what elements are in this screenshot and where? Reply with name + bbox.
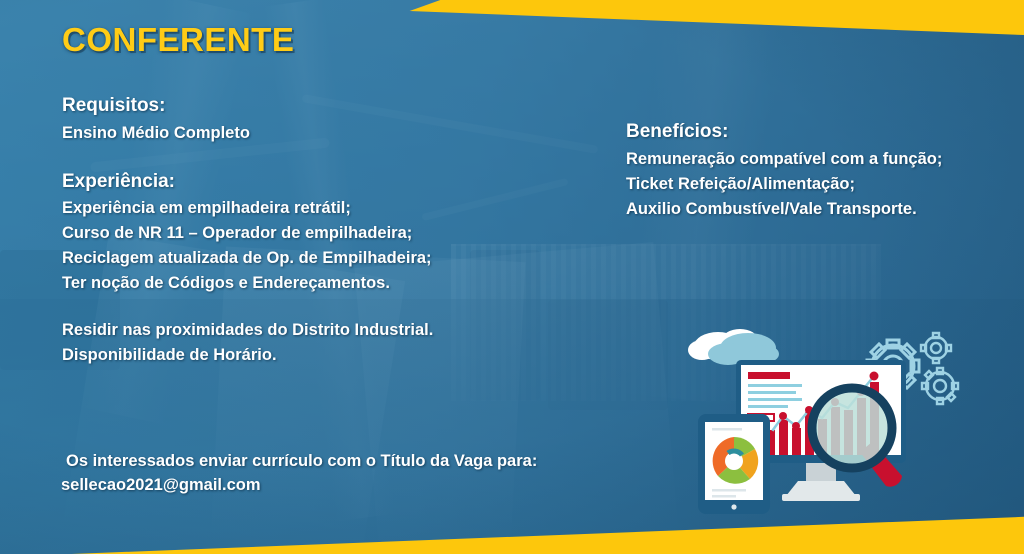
cloud-icon [688,329,779,365]
experiencia-item: Reciclagem atualizada de Op. de Empilhad… [62,246,582,271]
gear-icon [922,368,958,404]
requisitos-item: Ensino Médio Completo [62,121,582,146]
job-posting-poster: CONFERENTE Requisitos: Ensino Médio Comp… [0,0,1024,554]
extra-item: Disponibilidade de Horário. [62,343,582,368]
tablet-icon [698,414,770,514]
experiencia-heading: Experiência: [62,168,582,197]
analytics-illustration [688,324,1024,530]
cta-instruction: Os interessados enviar currículo com o T… [66,452,537,471]
beneficios-item: Ticket Refeição/Alimentação; [626,172,1016,197]
right-column: Benefícios: Remuneração compatível com a… [626,118,1016,222]
call-to-action: Os interessados enviar currículo com o T… [66,452,537,495]
left-column: Requisitos: Ensino Médio Completo Experi… [62,92,582,369]
beneficios-heading: Benefícios: [626,118,1016,147]
requisitos-heading: Requisitos: [62,92,582,121]
experiencia-item: Curso de NR 11 – Operador de empilhadeir… [62,221,582,246]
experiencia-item: Experiência em empilhadeira retrátil; [62,196,582,221]
beneficios-item: Auxilio Combustível/Vale Transporte. [626,197,1016,222]
spacer-1 [62,146,582,168]
extra-item: Residir nas proximidades do Distrito Ind… [62,318,582,343]
gear-icon [921,333,951,363]
spacer-2 [62,296,582,318]
beneficios-item: Remuneração compatível com a função; [626,147,1016,172]
page-title: CONFERENTE [62,21,294,59]
experiencia-item: Ter noção de Códigos e Endereçamentos. [62,271,582,296]
cta-email[interactable]: sellecao2021@gmail.com [61,476,537,495]
